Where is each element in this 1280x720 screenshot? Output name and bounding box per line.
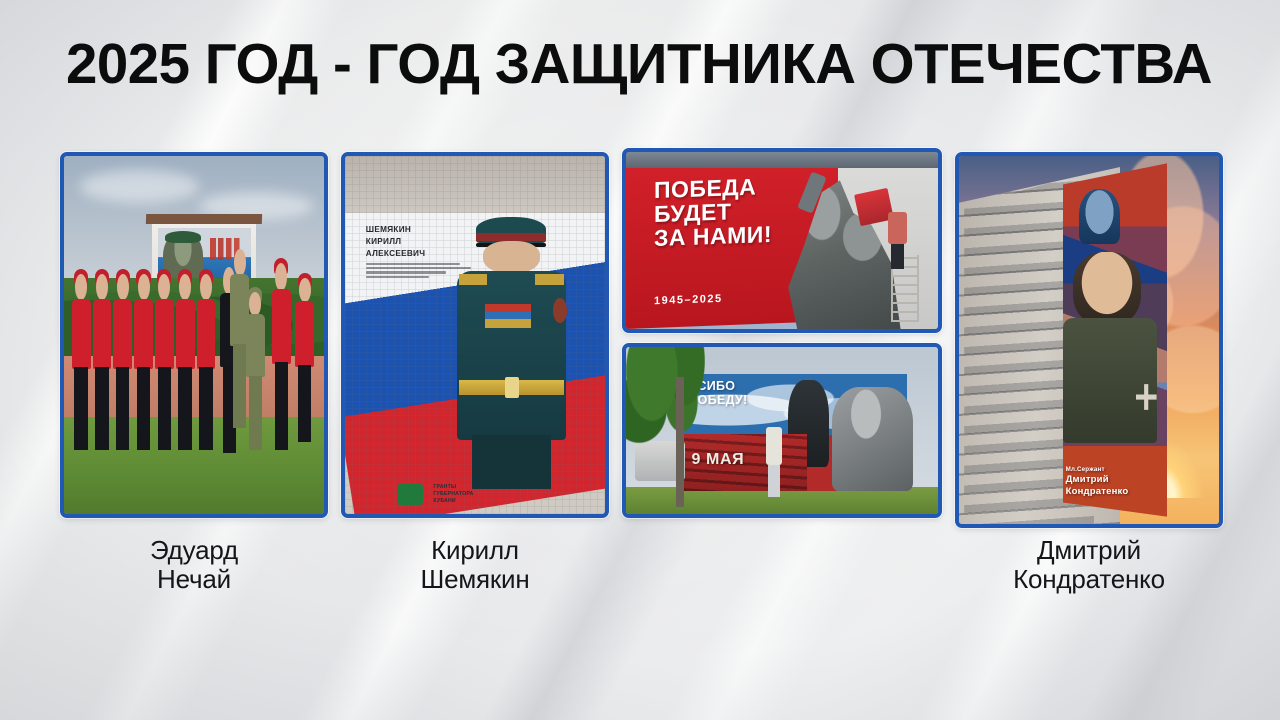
caption-kirill-shemyakin: Кирилл Шемякин: [341, 536, 609, 594]
mural-officer-figure: [457, 217, 566, 489]
photo-frame-9maya-mural: АСИБО ПОБЕДУ! 9 МАЯ: [622, 343, 942, 518]
photo-frame-kirill-shemyakin: ШЕМЯКИН КИРИЛЛ АЛЕКСЕЕВИЧ ГРАНТЫ ГУБ: [341, 152, 609, 518]
photo-frame-pobeda-mural: ПОБЕДА БУДЕТ ЗА НАМИ! 1945–2025: [622, 148, 942, 333]
head: [138, 274, 150, 300]
torso: [295, 301, 314, 367]
photo-frame-dmitry-kondratenko: Мл.Сержант Дмитрий Кондратенко: [955, 152, 1223, 528]
officer-belt: [459, 380, 564, 395]
officer-epaulet-right: [535, 274, 563, 285]
person-in-red: [93, 274, 112, 449]
officer-epaulet-left: [459, 274, 487, 285]
officer-face: [483, 241, 540, 274]
head: [75, 274, 87, 300]
subtext-line: [366, 267, 471, 269]
torso: [272, 289, 291, 363]
torso: [230, 274, 249, 346]
photo-frame-eduard-nechay: [60, 152, 328, 518]
mural-slogan-line-3: ЗА НАМИ!: [654, 223, 772, 251]
caption-line-2: Шемякин: [341, 565, 609, 594]
grant-credit-block: ГРАНТЫ ГУБЕРНАТОРА КУБАНИ: [433, 484, 532, 505]
mural-name-line-1: Дмитрий: [1066, 474, 1170, 486]
grant-line-3: КУБАНИ: [433, 498, 532, 505]
caption-eduard-nechay: Эдуард Нечай: [60, 536, 328, 594]
mural-soldier-beret: [165, 231, 201, 243]
torso: [72, 299, 91, 369]
head: [299, 278, 311, 303]
caption-line-1: Эдуард: [60, 536, 328, 565]
person-in-red: [176, 274, 195, 449]
officer-medal-ribbons: [485, 304, 531, 328]
head: [249, 292, 261, 316]
photo-dmitry-kondratenko: Мл.Сержант Дмитрий Кондратенко: [959, 156, 1219, 524]
torso: [93, 299, 112, 369]
artist-legs: [891, 244, 904, 269]
person-in-red: [155, 274, 174, 449]
mural-slogan: ПОБЕДА БУДЕТ ЗА НАМИ!: [654, 175, 772, 251]
head: [275, 263, 287, 291]
head: [234, 249, 246, 276]
photo-kirill-shemyakin: ШЕМЯКИН КИРИЛЛ АЛЕКСЕЕВИЧ ГРАНТЫ ГУБ: [345, 156, 605, 514]
legs: [95, 367, 108, 449]
cloud: [80, 170, 200, 202]
legs: [249, 376, 262, 450]
slide-title: 2025 ГОД - ГОД ЗАЩИТНИКА ОТЕЧЕСТВА: [66, 36, 1212, 93]
legs: [199, 367, 212, 449]
torso: [134, 299, 153, 369]
legs: [275, 362, 288, 449]
caption-line-2: Кондратенко: [955, 565, 1223, 594]
legs: [137, 367, 150, 449]
person-in-red: [295, 278, 314, 443]
tree-trunk: [676, 377, 684, 507]
torso: [155, 299, 174, 369]
artist-torso: [888, 212, 907, 244]
grant-line-1: ГРАНТЫ: [433, 484, 532, 491]
person-in-red: [113, 274, 132, 449]
mural-upper-soldier: [1079, 189, 1121, 244]
subtext-line: [366, 271, 446, 273]
mural-name-plate: Мл.Сержант Дмитрий Кондратенко: [1066, 466, 1170, 498]
mural-portrait-uniform: [1063, 318, 1157, 443]
subtext-line: [366, 263, 460, 265]
person-in-red: [72, 274, 91, 449]
roof-edge: [626, 152, 938, 168]
photo-pobeda-budet-za-nami: ПОБЕДА БУДЕТ ЗА НАМИ! 1945–2025: [626, 152, 938, 329]
passerby-torso: [766, 427, 782, 465]
head: [158, 274, 170, 300]
caption-dmitry-kondratenko: Дмитрий Кондратенко: [955, 536, 1223, 594]
legs: [158, 367, 171, 449]
person-in-red: [134, 274, 153, 449]
caption-line-1: Дмитрий: [955, 536, 1223, 565]
head: [117, 274, 129, 300]
person-in-red: [272, 263, 291, 449]
person-in-red: [197, 274, 216, 449]
photo-eduard-nechay: [64, 156, 324, 514]
photo-9-maya-mural: АСИБО ПОБЕДУ! 9 МАЯ: [626, 347, 938, 514]
subtext-line: [366, 276, 429, 278]
officer-peaked-cap: [476, 217, 546, 244]
sponsor-logo-icon: [397, 484, 423, 505]
torso: [197, 299, 216, 369]
legs: [178, 367, 191, 449]
legs: [116, 367, 129, 449]
legs: [298, 365, 311, 442]
head: [96, 274, 108, 300]
mural-rank: Мл.Сержант: [1066, 466, 1170, 474]
person-in-camo: [230, 249, 249, 428]
passerby-legs: [768, 465, 780, 497]
legs: [74, 367, 87, 449]
officer-trousers: [472, 435, 551, 489]
head: [179, 274, 191, 300]
legs: [233, 344, 246, 428]
torso: [176, 299, 195, 369]
officer-uniform-jacket: [457, 271, 566, 440]
caption-line-2: Нечай: [60, 565, 328, 594]
officer-sleeve-patch: [553, 298, 567, 322]
passerby: [766, 427, 782, 497]
grant-line-2: ГУБЕРНАТОРА: [433, 491, 532, 498]
mural-name-line-2: Кондратенко: [1066, 486, 1170, 498]
torso: [113, 299, 132, 369]
artist-on-ladder: [888, 212, 907, 269]
mural-years: 1945–2025: [654, 293, 723, 307]
caption-line-1: Кирилл: [341, 536, 609, 565]
mural-soldier-portrait: [832, 387, 913, 491]
mural-portrait-face: [1073, 252, 1141, 326]
head: [200, 274, 212, 300]
